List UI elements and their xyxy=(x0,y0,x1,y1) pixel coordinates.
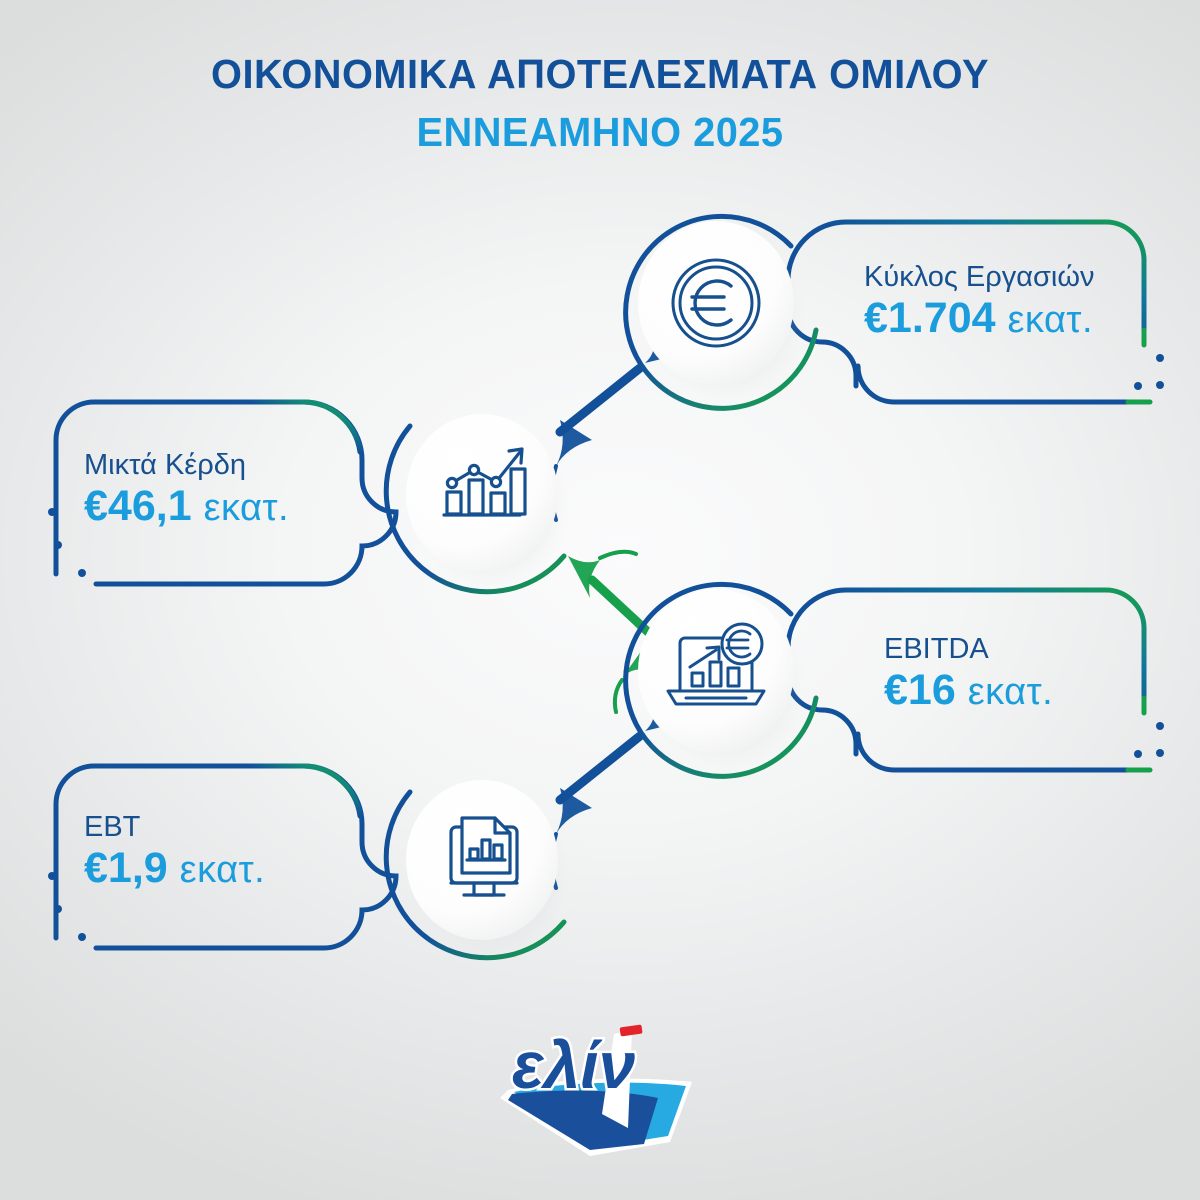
logo-wordmark: ελίν xyxy=(512,1028,636,1102)
metric-ebitda-text: EBITDA €16 εκατ. xyxy=(884,634,1053,714)
metric-revenue-text: Κύκλος Εργασιών €1.704 εκατ. xyxy=(864,262,1095,342)
metric-amount-ebt: €1,9 xyxy=(84,844,168,892)
dot xyxy=(1134,750,1142,758)
metric-label-ebitda: EBITDA xyxy=(884,634,1053,665)
dot xyxy=(1156,381,1164,389)
dot xyxy=(54,541,62,549)
dot xyxy=(78,569,86,577)
dot xyxy=(54,905,62,913)
dot xyxy=(1156,749,1164,757)
dot xyxy=(1156,722,1164,730)
metric-amount-gross-profit: €46,1 xyxy=(84,482,192,530)
node-ebt[interactable] xyxy=(386,780,570,958)
metric-ebt-text: EBT €1,9 εκατ. xyxy=(84,812,265,892)
monitor-report-icon xyxy=(451,818,517,895)
node-revenue[interactable] xyxy=(626,216,816,408)
node-gross-profit[interactable] xyxy=(386,414,570,592)
metric-label-ebt: EBT xyxy=(84,812,265,843)
dot xyxy=(1156,354,1164,362)
metric-label-gross-profit: Μικτά Κέρδη xyxy=(84,450,289,481)
metric-value-ebitda: €16 εκατ. xyxy=(884,666,1053,714)
elin-logo: ελίν xyxy=(494,1016,706,1156)
dot xyxy=(48,508,56,516)
metric-unit-ebt: εκατ. xyxy=(180,849,266,891)
metric-unit-revenue: εκατ. xyxy=(1007,299,1093,341)
metric-label-revenue: Κύκλος Εργασιών xyxy=(864,262,1095,293)
dot xyxy=(48,872,56,880)
metric-unit-ebitda: εκατ. xyxy=(968,671,1054,713)
dot xyxy=(78,933,86,941)
metric-value-revenue: €1.704 εκατ. xyxy=(864,294,1095,342)
logo-accent-tonos xyxy=(620,1025,643,1037)
metric-value-gross-profit: €46,1 εκατ. xyxy=(84,482,289,530)
metric-amount-ebitda: €16 xyxy=(884,666,956,714)
infographic-canvas: ΟΙΚΟΝΟΜΙΚΑ ΑΠΟΤΕΛΕΣΜΑΤΑ ΟΜΙΛΟΥ ΕΝΝΕΑΜΗΝΟ… xyxy=(0,0,1200,1200)
node-ebitda[interactable] xyxy=(626,584,816,776)
metric-amount-revenue: €1.704 xyxy=(864,294,996,342)
svg-text:ελίν: ελίν xyxy=(512,1028,636,1102)
metric-gross-profit-text: Μικτά Κέρδη €46,1 εκατ. xyxy=(84,450,289,530)
metric-unit-gross-profit: εκατ. xyxy=(204,487,290,529)
dot xyxy=(1134,382,1142,390)
metric-value-ebt: €1,9 εκατ. xyxy=(84,844,265,892)
